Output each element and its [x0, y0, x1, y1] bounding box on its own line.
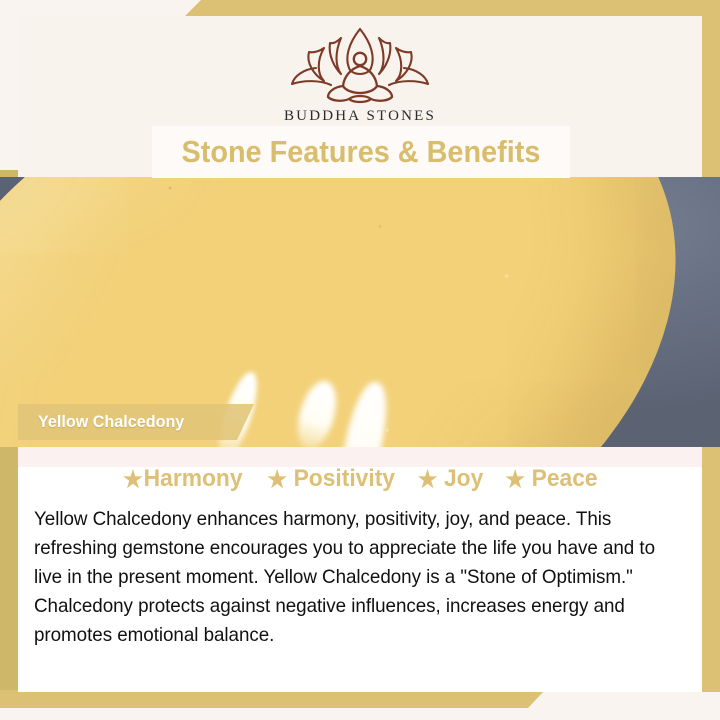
page-title: Stone Features & Benefits	[182, 134, 541, 170]
stone-name-badge: Yellow Chalcedony	[18, 404, 254, 440]
stone-name-label: Yellow Chalcedony	[38, 412, 184, 432]
feature-item-positivity: ★Positivity	[267, 465, 395, 493]
brand-logo: BUDDHA STONES	[18, 24, 702, 125]
feature-item-joy: ★Joy	[418, 465, 484, 493]
star-icon: ★	[267, 468, 287, 491]
lotus-meditation-icon	[286, 24, 434, 106]
star-icon: ★	[505, 468, 525, 491]
panel-top-tint	[18, 447, 702, 467]
product-info-card: BUDDHA STONES Stone Features & Benefits …	[0, 0, 720, 720]
gold-band-top	[0, 0, 720, 17]
brand-name: BUDDHA STONES	[284, 108, 436, 125]
gold-band-bottom	[0, 690, 560, 708]
feature-item-peace: ★Peace	[505, 465, 597, 493]
feature-list: ★Harmony ★Positivity ★Joy ★Peace	[18, 465, 702, 493]
star-icon: ★	[418, 468, 438, 491]
feature-label: Harmony	[144, 465, 243, 493]
feature-label: Peace	[532, 465, 598, 493]
star-icon: ★	[123, 468, 143, 491]
feature-label: Joy	[444, 465, 483, 493]
feature-label: Positivity	[293, 465, 394, 493]
description-panel: ★Harmony ★Positivity ★Joy ★Peace Yellow …	[18, 447, 702, 692]
section-title-banner: Stone Features & Benefits	[152, 126, 570, 178]
description-text: Yellow Chalcedony enhances harmony, posi…	[34, 505, 666, 650]
feature-item-harmony: ★Harmony	[123, 465, 242, 493]
